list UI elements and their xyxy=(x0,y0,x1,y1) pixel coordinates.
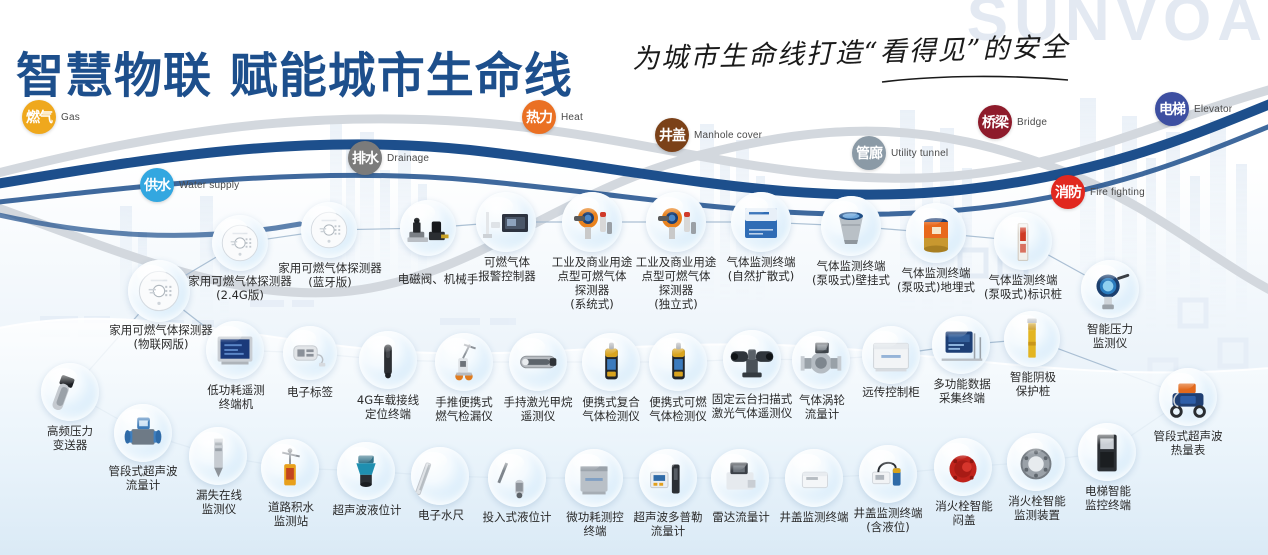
product-thumbnail-bubble[interactable] xyxy=(488,449,546,507)
controller-icon xyxy=(476,192,536,252)
round-detector-icon xyxy=(212,215,268,271)
product-thumbnail-bubble[interactable] xyxy=(639,449,697,507)
product-thumbnail-bubble[interactable] xyxy=(785,449,843,507)
doppler-icon xyxy=(639,449,697,507)
turbine-meter-icon xyxy=(792,331,850,389)
product-thumbnail-bubble[interactable] xyxy=(646,192,706,252)
cart-icon xyxy=(435,333,493,391)
category-dot-icon: 热力 xyxy=(522,100,556,134)
product-thumbnail-bubble[interactable] xyxy=(1159,368,1217,426)
handheld-yellow-icon xyxy=(649,333,707,391)
category-badge-utility-tunnel[interactable]: 管廊Utility tunnel xyxy=(852,136,948,170)
product-caption: 家用可燃气体探测器 (蓝牙版) xyxy=(268,261,392,289)
subtitle-underline xyxy=(880,74,1070,84)
product-thumbnail-bubble[interactable] xyxy=(906,203,966,263)
product-thumbnail-bubble[interactable] xyxy=(1078,423,1136,481)
category-label-en: Heat xyxy=(561,112,583,123)
category-label-en: Manhole cover xyxy=(694,130,762,141)
hydrant-ring-icon xyxy=(1007,433,1065,491)
manhole-level-icon xyxy=(859,445,917,503)
category-dot-icon: 电梯 xyxy=(1155,92,1189,126)
product-thumbnail-bubble[interactable] xyxy=(337,442,395,500)
product-thumbnail-bubble[interactable] xyxy=(261,439,319,497)
product-thumbnail-bubble[interactable] xyxy=(792,331,850,389)
cylinder-orange-icon xyxy=(906,203,966,263)
blue-panel-icon xyxy=(206,321,264,379)
rtu-box-icon xyxy=(565,449,623,507)
product-thumbnail-bubble[interactable] xyxy=(859,445,917,503)
marker-post-icon xyxy=(994,212,1052,270)
product-thumbnail-bubble[interactable] xyxy=(821,196,881,256)
product-caption: 电梯智能 监控终端 xyxy=(1060,484,1156,512)
product-thumbnail-bubble[interactable] xyxy=(400,200,456,256)
product-thumbnail-bubble[interactable] xyxy=(1004,311,1060,367)
product-thumbnail-bubble[interactable] xyxy=(212,215,268,271)
product-thumbnail-bubble[interactable] xyxy=(711,449,769,507)
category-label-en: Water supply xyxy=(179,180,239,191)
category-dot-icon: 管廊 xyxy=(852,136,886,170)
category-badge-water-supply[interactable]: 供水Water supply xyxy=(140,168,239,202)
category-badge-drainage[interactable]: 排水Drainage xyxy=(348,141,429,175)
hydrant-cap-icon xyxy=(934,438,992,496)
category-badge-elevator[interactable]: 电梯Elevator xyxy=(1155,92,1232,126)
category-label-en: Utility tunnel xyxy=(891,148,948,159)
category-badge-manhole-cover[interactable]: 井盖Manhole cover xyxy=(655,118,762,152)
gas-detector-orange-icon xyxy=(562,192,622,252)
product-thumbnail-bubble[interactable] xyxy=(731,192,791,252)
product-thumbnail-bubble[interactable] xyxy=(206,321,264,379)
product-thumbnail-bubble[interactable] xyxy=(1007,433,1065,491)
product-thumbnail-bubble[interactable] xyxy=(359,331,417,389)
product-thumbnail-bubble[interactable] xyxy=(932,316,990,374)
pressure-meter-icon xyxy=(1081,260,1139,318)
submersible-icon xyxy=(488,449,546,507)
product-thumbnail-bubble[interactable] xyxy=(476,192,536,252)
product-thumbnail-bubble[interactable] xyxy=(301,202,357,258)
ribbon-blue xyxy=(0,96,1268,235)
product-thumbnail-bubble[interactable] xyxy=(582,333,640,391)
gas-detector-orange-icon xyxy=(646,192,706,252)
product-thumbnail-bubble[interactable] xyxy=(723,330,781,388)
poster-canvas: SUNVOA 智慧物联 赋能城市生命线 为城市生命线打造“看得见”的安全 燃气G… xyxy=(0,0,1268,555)
data-acq-icon xyxy=(932,316,990,374)
laser-gun-icon xyxy=(509,333,567,391)
product-caption: 管段式超声波 热量表 xyxy=(1132,429,1244,457)
leak-probe-icon xyxy=(189,427,247,485)
water-ruler-icon xyxy=(411,447,469,505)
elevator-cab-icon xyxy=(1078,423,1136,481)
product-thumbnail-bubble[interactable] xyxy=(114,404,172,462)
category-dot-icon: 消防 xyxy=(1051,175,1085,209)
category-badge-fire-fighting[interactable]: 消防Fire fighting xyxy=(1051,175,1145,209)
product-thumbnail-bubble[interactable] xyxy=(283,326,337,380)
product-thumbnail-bubble[interactable] xyxy=(565,449,623,507)
product-thumbnail-bubble[interactable] xyxy=(435,333,493,391)
product-thumbnail-bubble[interactable] xyxy=(862,326,920,384)
product-caption: 智能阴极 保护桩 xyxy=(986,370,1080,398)
heat-meter-icon xyxy=(1159,368,1217,426)
product-thumbnail-bubble[interactable] xyxy=(411,447,469,505)
manhole-sensor-icon xyxy=(785,449,843,507)
page-title: 智慧物联 赋能城市生命线 xyxy=(16,52,573,100)
product-thumbnail-bubble[interactable] xyxy=(509,333,567,391)
round-detector-icon xyxy=(301,202,357,258)
cabinet-white-icon xyxy=(862,326,920,384)
anode-post-icon xyxy=(1004,311,1060,367)
blue-box-icon xyxy=(731,192,791,252)
category-label-en: Drainage xyxy=(387,153,429,164)
radar-flow-icon xyxy=(711,449,769,507)
category-label-en: Fire fighting xyxy=(1090,187,1145,198)
flow-meter-blue-icon xyxy=(114,404,172,462)
product-thumbnail-bubble[interactable] xyxy=(994,212,1052,270)
category-badge-heat[interactable]: 热力Heat xyxy=(522,100,583,134)
product-thumbnail-bubble[interactable] xyxy=(649,333,707,391)
product-thumbnail-bubble[interactable] xyxy=(41,363,99,421)
category-dot-icon: 供水 xyxy=(140,168,174,202)
handheld-yellow-icon xyxy=(582,333,640,391)
flood-station-icon xyxy=(261,439,319,497)
cylinder-steel-icon xyxy=(821,196,881,256)
product-caption: 智能压力 监测仪 xyxy=(1062,322,1158,350)
product-thumbnail-bubble[interactable] xyxy=(562,192,622,252)
antenna-icon xyxy=(359,331,417,389)
product-caption: 气体监测终端 (泵吸式)标识桩 xyxy=(968,273,1078,301)
category-badge-bridge[interactable]: 桥梁Bridge xyxy=(978,105,1047,139)
product-thumbnail-bubble[interactable] xyxy=(934,438,992,496)
product-thumbnail-bubble[interactable] xyxy=(1081,260,1139,318)
category-dot-icon: 排水 xyxy=(348,141,382,175)
category-label-en: Gas xyxy=(61,112,80,123)
category-label-en: Bridge xyxy=(1017,117,1047,128)
category-dot-icon: 桥梁 xyxy=(978,105,1012,139)
valve-icon xyxy=(400,200,456,256)
category-badge-gas[interactable]: 燃气Gas xyxy=(22,100,80,134)
category-dot-icon: 燃气 xyxy=(22,100,56,134)
product-thumbnail-bubble[interactable] xyxy=(189,427,247,485)
ptz-camera-icon xyxy=(723,330,781,388)
product-caption: 高频压力 变送器 xyxy=(22,424,118,452)
category-dot-icon: 井盖 xyxy=(655,118,689,152)
category-label-en: Elevator xyxy=(1194,104,1232,115)
ultrasonic-level-icon xyxy=(337,442,395,500)
product-caption: 家用可燃气体探测器 (物联网版) xyxy=(99,323,223,351)
tag-icon xyxy=(283,326,337,380)
pressure-tx-icon xyxy=(41,363,99,421)
